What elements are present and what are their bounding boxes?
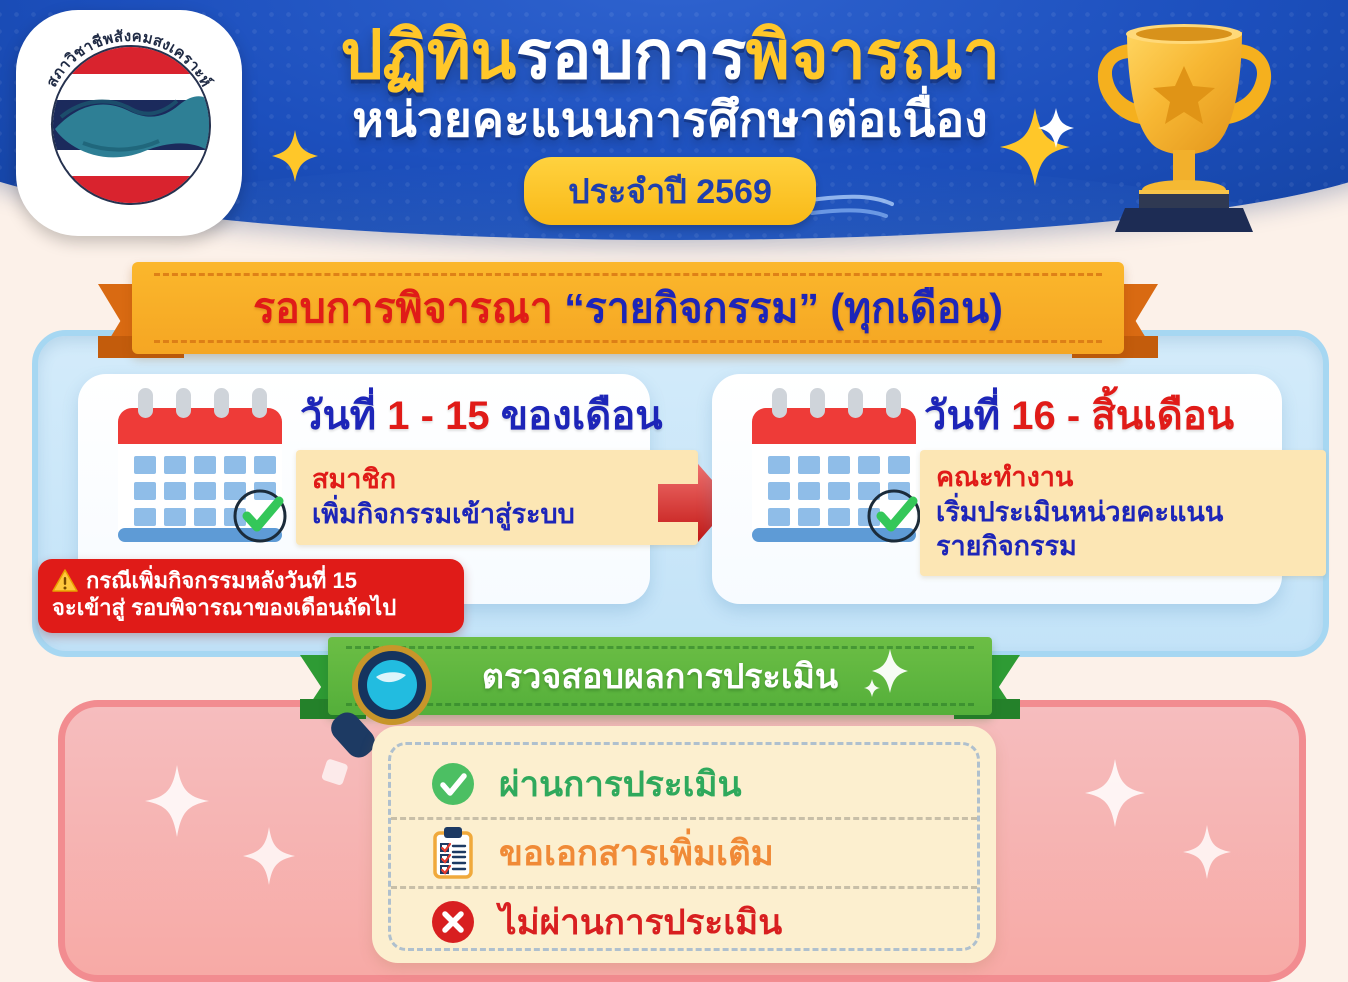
results-dashed-frame: ผ่านการประเมิน xyxy=(388,742,980,951)
green-ribbon-text: ตรวจสอบผลการประเมิน xyxy=(482,649,838,703)
result-label-pass: ผ่านการประเมิน xyxy=(499,767,742,802)
card-second-half: วันที่ 16 - สิ้นเดือน คณะทำงาน เริ่มประเ… xyxy=(712,374,1282,604)
x-circle-icon xyxy=(429,898,477,946)
result-label-fail: ไม่ผ่านการประเมิน xyxy=(499,905,782,940)
card-detail-box-first: สมาชิก เพิ่มกิจกรรมเข้าสู่ระบบ xyxy=(296,450,698,545)
sparkle-icon xyxy=(243,827,295,890)
ribbon-body: รอบการพิจารณา “รายกิจกรรม” (ทุกเดือน) xyxy=(132,262,1124,354)
evaluation-results-card: ผ่านการประเมิน xyxy=(372,726,996,963)
card-first-half: วันที่ 1 - 15 ของเดือน สมาชิก เพิ่มกิจกร… xyxy=(78,374,650,604)
warning-text-1: กรณีเพิ่มกิจกรรมหลังวันที่ 15 xyxy=(86,568,357,593)
orange-ribbon-banner: รอบการพิจารณา “รายกิจกรรม” (ทุกเดือน) xyxy=(98,262,1158,362)
card-heading-dates: 1 - 15 xyxy=(387,394,489,438)
title-block: ปฏิทินรอบการพิจารณา หน่วยคะแนนการศึกษาต่… xyxy=(250,22,1090,225)
ribbon-text: รอบการพิจารณา “รายกิจกรรม” (ทุกเดือน) xyxy=(253,288,1003,329)
green-ribbon-banner: ตรวจสอบผลการประเมิน xyxy=(300,637,1020,733)
detail-actor: สมาชิก xyxy=(312,462,682,497)
detail-action: เพิ่มกิจกรรมเข้าสู่ระบบ xyxy=(312,497,682,532)
card-heading-prefix: วันที่ xyxy=(924,394,1011,438)
warning-line-1: กรณีเพิ่มกิจกรรมหลังวันที่ 15 xyxy=(52,568,450,593)
result-row-fail: ไม่ผ่านการประเมิน xyxy=(391,886,977,955)
ribbon-text-blue: “รายกิจกรรม” (ทุกเดือน) xyxy=(553,285,1003,331)
calendar-check-icon xyxy=(738,382,934,558)
detail-actor: คณะทำงาน xyxy=(936,460,1310,495)
trophy-icon xyxy=(1067,8,1302,238)
detail-action-line-2: รายกิจกรรม xyxy=(936,529,1310,564)
page-subtitle: หน่วยคะแนนการศึกษาต่อเนื่อง xyxy=(250,96,1090,146)
result-label-more-docs: ขอเอกสารเพิ่มเติม xyxy=(499,836,774,871)
council-logo: สภาวิชาชีพสังคมสงเคราะห์ SOCIAL WORK PRO… xyxy=(16,10,242,236)
result-row-pass: ผ่านการประเมิน xyxy=(391,751,977,817)
card-detail-box-second: คณะทำงาน เริ่มประเมินหน่วยคะแนน รายกิจกร… xyxy=(920,450,1326,576)
warning-note: กรณีเพิ่มกิจกรรมหลังวันที่ 15 จะเข้าสู่ … xyxy=(38,559,464,633)
card-heading-second: วันที่ 16 - สิ้นเดือน xyxy=(924,396,1234,436)
sparkle-icon xyxy=(145,765,209,842)
card-heading-prefix: วันที่ xyxy=(300,394,387,438)
calendar-check-icon xyxy=(104,382,300,558)
warning-text-2: จะเข้าสู่ รอบพิจารณาของเดือนถัดไป xyxy=(52,595,450,621)
card-heading-first: วันที่ 1 - 15 ของเดือน xyxy=(300,396,663,436)
sparkle-icon xyxy=(1085,759,1145,832)
page-title: ปฏิทินรอบการพิจารณา xyxy=(250,22,1090,90)
ribbon-text-red: รอบการพิจารณา xyxy=(253,285,553,331)
helping-hands-icon xyxy=(53,47,209,203)
clipboard-icon xyxy=(429,829,477,877)
detail-action-line-1: เริ่มประเมินหน่วยคะแนน xyxy=(936,495,1310,530)
title-part-1: ปฏิทิน xyxy=(340,18,515,93)
warning-triangle-icon xyxy=(52,569,78,593)
thai-flag-emblem xyxy=(51,45,211,205)
infographic-root: สภาวิชาชีพสังคมสงเคราะห์ SOCIAL WORK PRO… xyxy=(0,0,1348,963)
title-part-2: รอบการ xyxy=(516,18,746,93)
year-badge: ประจำปี 2569 xyxy=(524,157,816,225)
sparkle-icon xyxy=(1183,825,1231,884)
check-circle-icon xyxy=(429,760,477,808)
title-part-3: พิจารณา xyxy=(746,18,1000,93)
result-row-more-docs: ขอเอกสารเพิ่มเติม xyxy=(391,817,977,886)
card-heading-suffix: ของเดือน xyxy=(490,394,663,438)
card-heading-dates: 16 - สิ้นเดือน xyxy=(1011,394,1234,438)
sparkle-icon xyxy=(862,645,908,702)
